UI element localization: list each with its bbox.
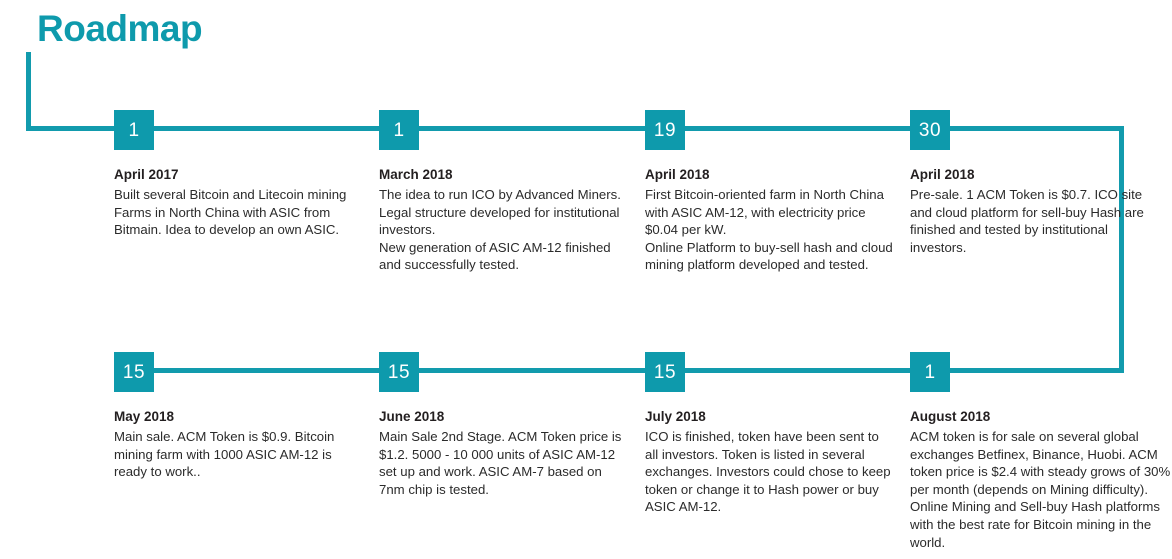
milestone-date: April 2018 — [645, 166, 895, 184]
milestone-body: April 2017 Built several Bitcoin and Lit… — [114, 166, 364, 239]
milestone-body: July 2018 ICO is finished, token have be… — [645, 408, 895, 516]
milestone-date: August 2018 — [910, 408, 1172, 426]
milestone-date: May 2018 — [114, 408, 364, 426]
milestone-day-badge[interactable]: 30 — [910, 110, 950, 150]
milestone-day-badge[interactable]: 1 — [379, 110, 419, 150]
milestone-body: August 2018 ACM token is for sale on sev… — [910, 408, 1172, 551]
milestone-description: ACM token is for sale on several global … — [910, 428, 1172, 551]
milestone-description: ICO is finished, token have been sent to… — [645, 428, 895, 516]
milestone-date: March 2018 — [379, 166, 629, 184]
timeline-left-connector — [26, 52, 31, 131]
milestone-description: Main sale. ACM Token is $0.9. Bitcoin mi… — [114, 428, 364, 481]
milestone-date: April 2017 — [114, 166, 364, 184]
timeline-rail-row-1 — [26, 126, 1124, 131]
roadmap-page: Roadmap 1 April 2017 Built several Bitco… — [0, 0, 1172, 559]
milestone-body: June 2018 Main Sale 2nd Stage. ACM Token… — [379, 408, 629, 498]
milestone-description: Pre-sale. 1 ACM Token is $0.7. ICO site … — [910, 186, 1160, 256]
timeline-rail-row-2 — [114, 368, 1124, 373]
milestone-body: April 2018 Pre-sale. 1 ACM Token is $0.7… — [910, 166, 1160, 256]
milestone-day-badge[interactable]: 15 — [114, 352, 154, 392]
milestone-description: Main Sale 2nd Stage. ACM Token price is … — [379, 428, 629, 498]
milestone-date: April 2018 — [910, 166, 1160, 184]
milestone-day-badge[interactable]: 1 — [910, 352, 950, 392]
milestone-body: May 2018 Main sale. ACM Token is $0.9. B… — [114, 408, 364, 481]
page-title: Roadmap — [37, 8, 202, 51]
milestone-description: The idea to run ICO by Advanced Miners. … — [379, 186, 629, 274]
milestone-description: Built several Bitcoin and Litecoin minin… — [114, 186, 364, 239]
milestone-body: March 2018 The idea to run ICO by Advanc… — [379, 166, 629, 274]
milestone-date: July 2018 — [645, 408, 895, 426]
milestone-day-badge[interactable]: 15 — [645, 352, 685, 392]
milestone-date: June 2018 — [379, 408, 629, 426]
milestone-day-badge[interactable]: 1 — [114, 110, 154, 150]
milestone-body: April 2018 First Bitcoin-oriented farm i… — [645, 166, 895, 274]
milestone-day-badge[interactable]: 19 — [645, 110, 685, 150]
milestone-description: First Bitcoin-oriented farm in North Chi… — [645, 186, 895, 274]
milestone-day-badge[interactable]: 15 — [379, 352, 419, 392]
